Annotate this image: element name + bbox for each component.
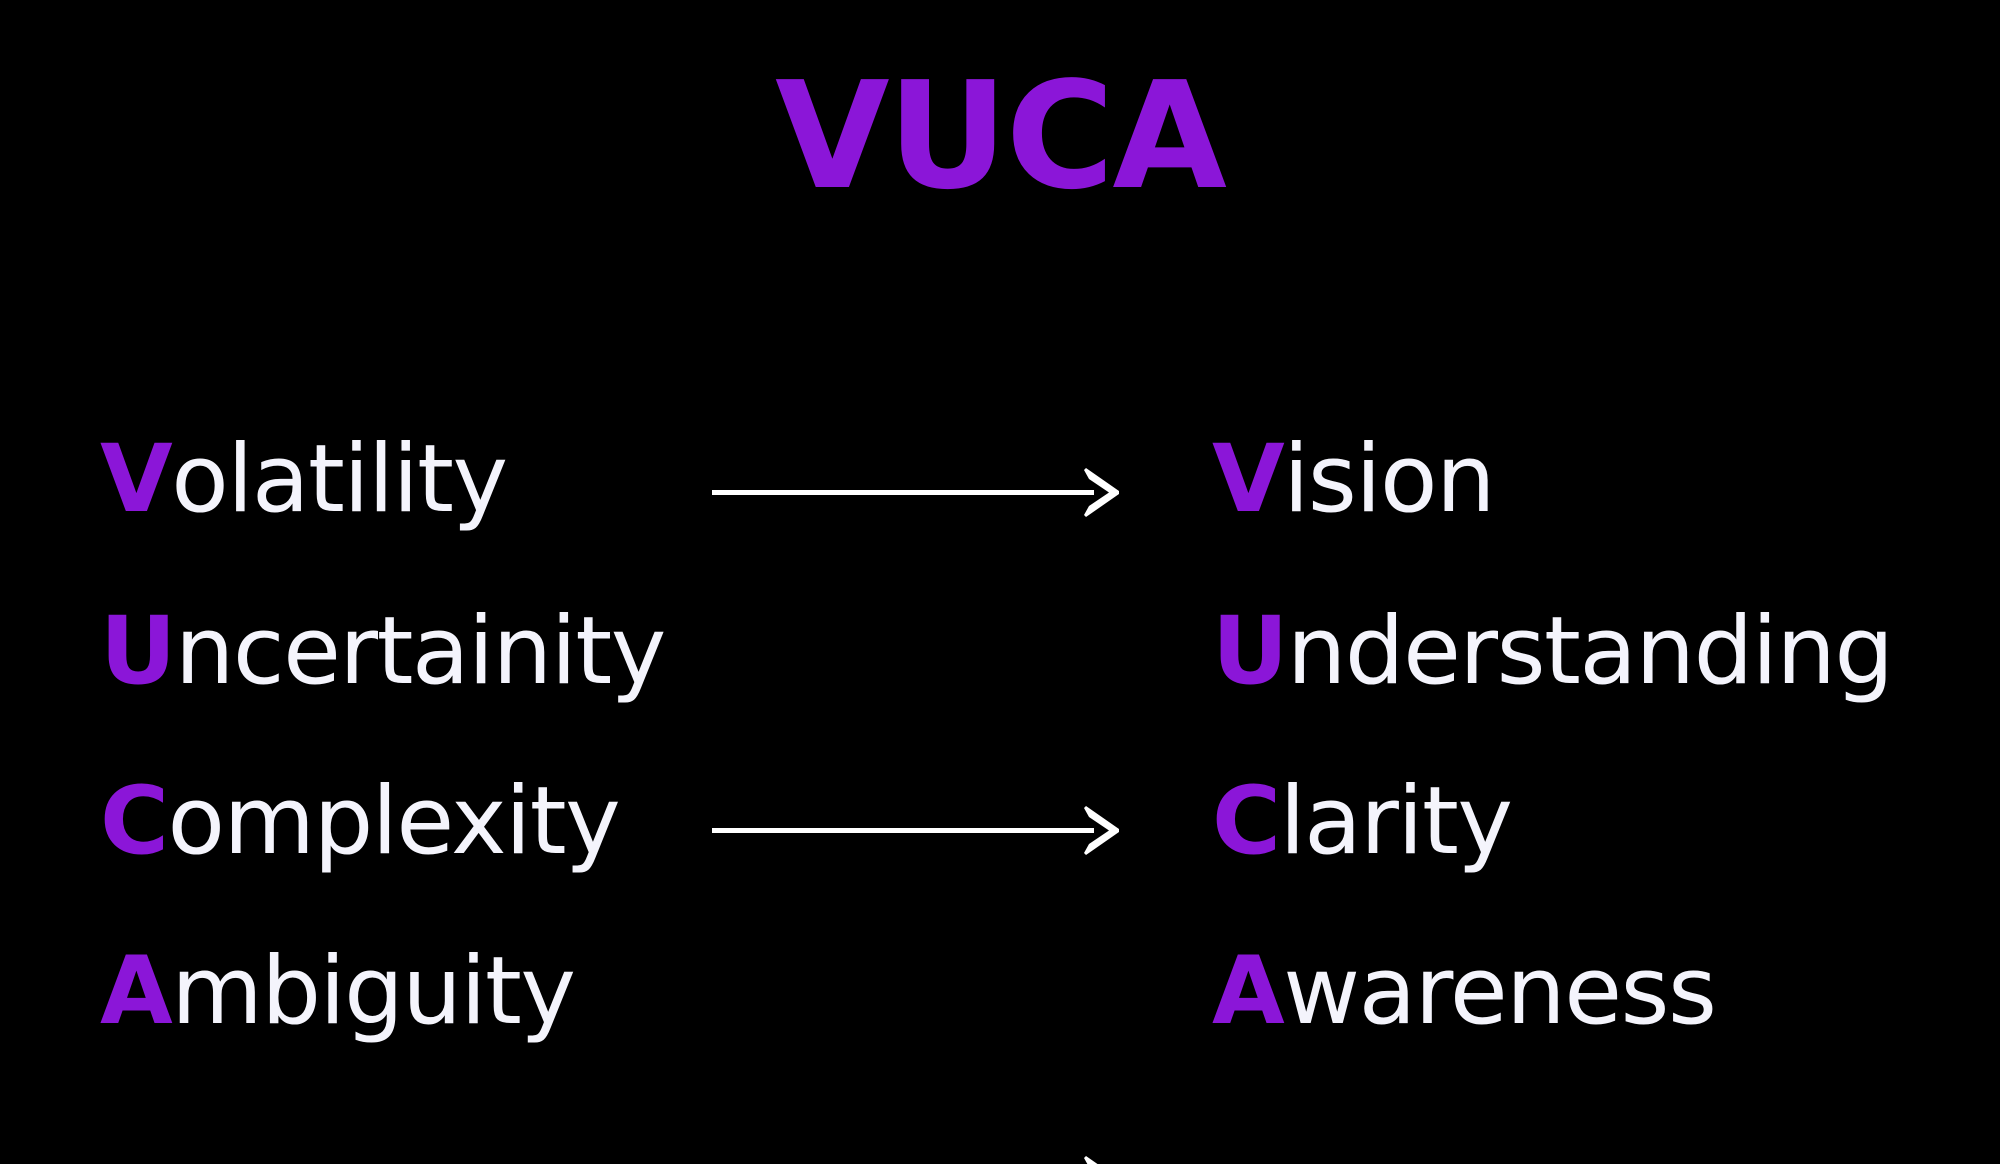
term-initial: U xyxy=(100,597,175,706)
vuca-term-volatility: Volatility xyxy=(100,420,507,540)
vuca-term-clarity: Clarity xyxy=(1212,762,1511,882)
vuca-term-complexity: Complexity xyxy=(100,762,619,882)
term-rest: omplexity xyxy=(168,767,620,876)
term-rest: wareness xyxy=(1283,937,1715,1046)
term-rest: larity xyxy=(1280,767,1512,876)
mapping-row: Ambiguity Awareness xyxy=(0,932,2000,1082)
term-rest: nderstanding xyxy=(1287,597,1893,706)
vuca-term-uncertainity: Uncertainity xyxy=(100,592,665,712)
vuca-slide: VUCA Volatility Vision Uncertainity xyxy=(0,0,2000,1164)
term-initial: C xyxy=(1212,767,1280,876)
term-initial: C xyxy=(100,767,168,876)
arrow-right-icon xyxy=(718,1150,1122,1164)
term-rest: olatility xyxy=(171,425,506,534)
term-initial: A xyxy=(100,937,171,1046)
term-initial: A xyxy=(1212,937,1283,1046)
vuca-term-ambiguity: Ambiguity xyxy=(100,932,574,1052)
vuca-term-vision: Vision xyxy=(1212,420,1494,540)
term-initial: V xyxy=(100,425,171,534)
term-rest: mbiguity xyxy=(171,937,574,1046)
mapping-row: Complexity Clarity xyxy=(0,762,2000,912)
term-rest: ncertainity xyxy=(175,597,665,706)
arrow-right-icon xyxy=(712,462,1122,522)
vuca-mapping-list: Volatility Vision Uncertainity xyxy=(0,410,2000,1110)
term-initial: V xyxy=(1212,425,1283,534)
page-title: VUCA xyxy=(0,62,2000,210)
page-title-text: VUCA xyxy=(775,50,1225,222)
vuca-term-understanding: Understanding xyxy=(1212,592,1893,712)
term-initial: U xyxy=(1212,597,1287,706)
mapping-row: Volatility Vision xyxy=(0,420,2000,570)
term-rest: ision xyxy=(1283,425,1494,534)
vuca-term-awareness: Awareness xyxy=(1212,932,1716,1052)
mapping-row: Uncertainity Understanding xyxy=(0,592,2000,742)
